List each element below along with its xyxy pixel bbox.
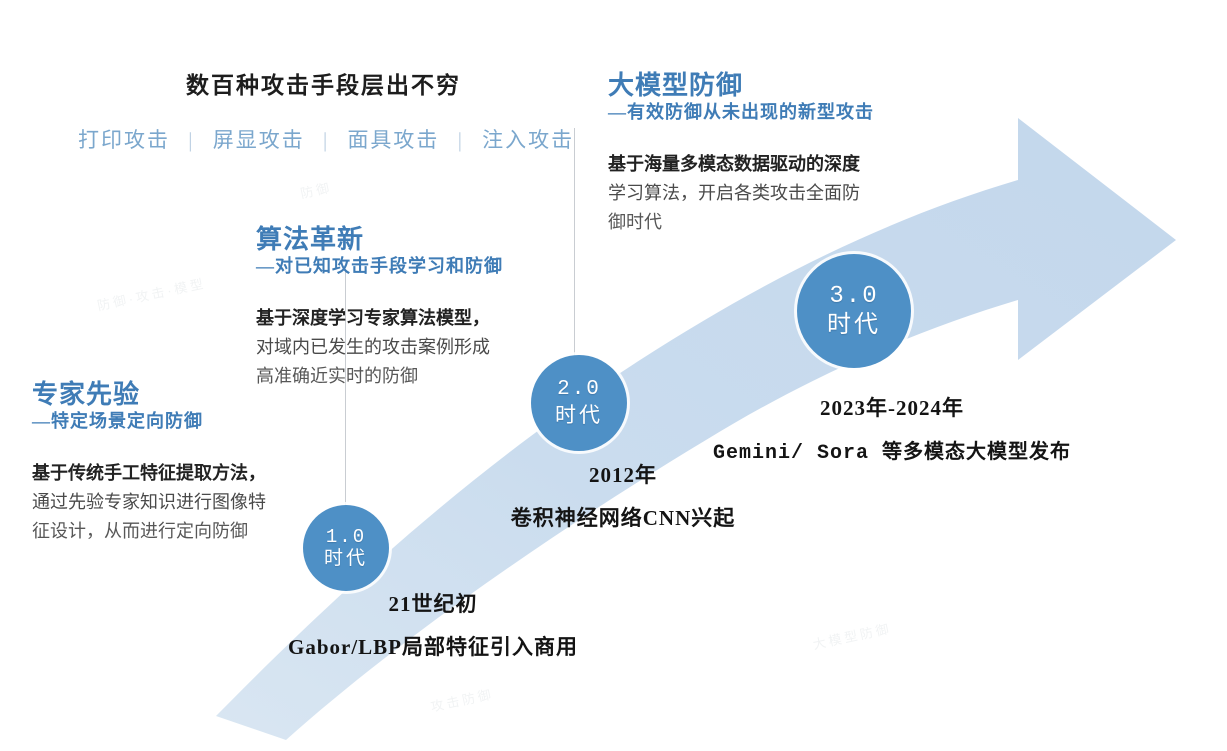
stage2-body: 基于深度学习专家算法模型， 对域内已发生的攻击案例形成 高准确近实时的防御 [256,304,503,391]
attack-tag-screen: 屏显攻击 [213,128,305,152]
stage3-body-line-1: 基于海量多模态数据驱动的深度 [608,150,874,179]
era-badge-3: 3.0 时代 [797,254,911,368]
stage3-body-line-2: 学习算法，开启各类攻击全面防 [608,179,874,208]
separator-icon: | [177,128,205,152]
era-2-label: 时代 [555,403,603,428]
watermark: 大模型防御 [811,618,893,653]
stage-expert-prior: 专家先验 —特定场景定向防御 基于传统手工特征提取方法， 通过先验专家知识进行图… [32,379,266,546]
stage1-body-line-3: 征设计，从而进行定向防御 [32,517,266,546]
watermark: 防御·攻击·模型 [95,273,207,315]
stage1-body-line-1: 基于传统手工特征提取方法， [32,459,266,488]
era-2-number: 2.0 [557,378,601,403]
era-3-number: 3.0 [829,283,878,311]
watermark: 攻击防御 [429,684,496,716]
stage1-heading: 专家先验 [32,379,266,411]
attack-type-row: 打印攻击 | 屏显攻击 | 面具攻击 | 注入攻击 [78,124,574,154]
leader-line-stage2 [574,128,575,358]
era-badge-2: 2.0 时代 [531,355,627,451]
milestone-stage1: 21世纪初 Gabor/LBP局部特征引入商用 [253,588,613,661]
infographic-canvas: 数百种攻击手段层出不穷 打印攻击 | 屏显攻击 | 面具攻击 | 注入攻击 大模… [0,0,1227,751]
stage1-body: 基于传统手工特征提取方法， 通过先验专家知识进行图像特 征设计，从而进行定向防御 [32,459,266,546]
top-title: 数百种攻击手段层出不穷 [186,66,461,100]
milestone-stage2: 2012年 卷积神经网络CNN兴起 [443,459,803,532]
stage3-body: 基于海量多模态数据驱动的深度 学习算法，开启各类攻击全面防 御时代 [608,150,874,237]
milestone-3-event: Gemini/ Sora 等多模态大模型发布 [708,435,1076,465]
milestone-1-event: Gabor/LBP局部特征引入商用 [253,631,613,661]
separator-icon: | [312,128,340,152]
stage1-subheading: —特定场景定向防御 [32,411,266,433]
attack-tag-mask: 面具攻击 [347,128,439,152]
stage3-body-line-3: 御时代 [608,208,874,237]
attack-tag-print: 打印攻击 [78,128,170,152]
stage1-body-line-2: 通过先验专家知识进行图像特 [32,488,266,517]
stage3-subheading: —有效防御从未出现的新型攻击 [608,102,874,124]
milestone-stage3: 2023年-2024年 Gemini/ Sora 等多模态大模型发布 [708,392,1076,465]
milestone-3-year: 2023年-2024年 [708,392,1076,422]
stage-algorithm-innovation: 算法革新 —对已知攻击手段学习和防御 基于深度学习专家算法模型， 对域内已发生的… [256,224,503,391]
era-1-label: 时代 [324,548,368,570]
stage2-body-line-1: 基于深度学习专家算法模型， [256,304,503,333]
milestone-2-event: 卷积神经网络CNN兴起 [443,502,803,532]
separator-icon: | [447,128,475,152]
era-1-number: 1.0 [326,526,366,548]
attack-tag-inject: 注入攻击 [482,128,574,152]
stage2-body-line-3: 高准确近实时的防御 [256,362,503,391]
stage3-heading: 大模型防御 [608,70,874,102]
stage2-heading: 算法革新 [256,224,503,256]
stage-large-model-defense: 大模型防御 —有效防御从未出现的新型攻击 基于海量多模态数据驱动的深度 学习算法… [608,70,874,237]
watermark: 防御 [298,177,333,202]
era-badge-1: 1.0 时代 [303,505,389,591]
era-3-label: 时代 [827,311,881,339]
stage2-subheading: —对已知攻击手段学习和防御 [256,256,503,278]
stage2-body-line-2: 对域内已发生的攻击案例形成 [256,333,503,362]
milestone-1-year: 21世纪初 [253,588,613,618]
